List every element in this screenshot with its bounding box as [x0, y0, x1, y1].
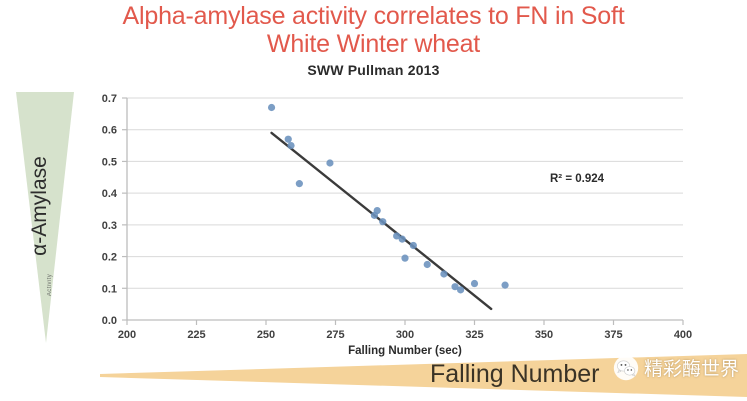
x-tick-label: 225: [187, 329, 205, 341]
alpha-amylase-gradient-banner: α-Amylase Activity: [12, 90, 90, 345]
data-point: [268, 104, 275, 111]
y-tick-label: 0.2: [102, 252, 117, 264]
x-tick-label: 375: [604, 329, 622, 341]
data-point: [501, 282, 508, 289]
falling-number-label: Falling Number: [430, 360, 600, 389]
y-axis-tick-labels: 0.7 0.6 0.5 0.4 0.3 0.2 0.1 0.0: [102, 93, 118, 327]
page-title: Alpha-amylase activity correlates to FN …: [0, 2, 747, 58]
watermark: 精彩酶世界: [613, 354, 739, 381]
data-point: [399, 236, 406, 243]
y-tick-label: 0.7: [102, 93, 117, 105]
x-tick-label: 275: [326, 329, 344, 341]
y-tick-label: 0.1: [102, 283, 117, 295]
watermark-text: 精彩酶世界: [644, 354, 739, 381]
data-point: [296, 180, 303, 187]
y-tick-label: 0.5: [102, 156, 117, 168]
x-tick-label: 200: [118, 329, 136, 341]
data-point: [285, 136, 292, 143]
y-tick-label: 0.3: [102, 220, 117, 232]
title-line-1: Alpha-amylase activity correlates to FN …: [123, 2, 625, 30]
scatter-chart: 0.7 0.6 0.5 0.4 0.3 0.2 0.1 0.0 200 225 …: [95, 88, 695, 358]
chart-subtitle: SWW Pullman 2013: [0, 62, 747, 78]
data-point: [471, 280, 478, 287]
data-point: [287, 142, 294, 149]
data-point: [401, 255, 408, 262]
x-tick-label: 325: [465, 329, 483, 341]
data-point: [326, 159, 333, 166]
data-point: [440, 270, 447, 277]
x-axis-tick-labels: 200 225 250 275 300 325 350 375 400: [118, 329, 692, 341]
x-tick-label: 350: [535, 329, 553, 341]
data-point: [410, 242, 417, 249]
data-point: [457, 286, 464, 293]
alpha-amylase-sublabel: Activity: [47, 253, 53, 317]
y-tick-label: 0.0: [102, 315, 117, 327]
y-tick-label: 0.6: [102, 125, 117, 137]
data-point: [424, 261, 431, 268]
x-tick-label: 400: [674, 329, 692, 341]
x-tick-marks: [127, 320, 683, 325]
x-tick-label: 250: [257, 329, 275, 341]
wechat-icon: [613, 355, 639, 381]
r-squared-annotation: R² = 0.924: [550, 173, 605, 185]
data-point: [371, 212, 378, 219]
slide-canvas: Alpha-amylase activity correlates to FN …: [0, 0, 747, 401]
y-tick-marks: [122, 98, 127, 320]
x-tick-label: 300: [396, 329, 414, 341]
y-tick-label: 0.4: [102, 188, 118, 200]
title-line-2: White Winter wheat: [0, 30, 747, 58]
data-point: [379, 218, 386, 225]
plot-background: [127, 98, 683, 320]
